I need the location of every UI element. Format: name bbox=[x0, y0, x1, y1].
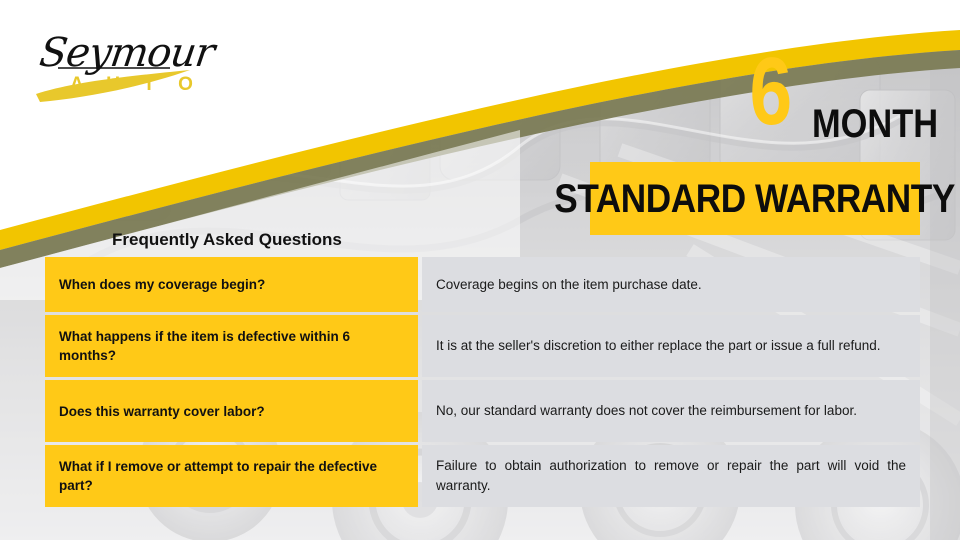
faq-question-cell: What if I remove or attempt to repair th… bbox=[45, 445, 418, 507]
faq-answer-cell: Coverage begins on the item purchase dat… bbox=[422, 257, 920, 312]
faq-question-cell: What happens if the item is defective wi… bbox=[45, 315, 418, 377]
faq-table: When does my coverage begin? Coverage be… bbox=[45, 257, 920, 507]
faq-answer-text: Failure to obtain authorization to remov… bbox=[436, 456, 906, 496]
table-row: What happens if the item is defective wi… bbox=[45, 315, 920, 377]
logo-auto-text: A U T O bbox=[70, 74, 202, 96]
warranty-duration-number: 6 bbox=[742, 44, 798, 140]
faq-answer-text: No, our standard warranty does not cover… bbox=[436, 401, 906, 421]
faq-answer-text: It is at the seller's discretion to eith… bbox=[436, 336, 906, 356]
table-row: Does this warranty cover labor? No, our … bbox=[45, 380, 920, 442]
brand-logo: Seymour A U T O bbox=[18, 16, 208, 108]
faq-heading: Frequently Asked Questions bbox=[112, 230, 342, 250]
faq-answer-text: Coverage begins on the item purchase dat… bbox=[436, 275, 906, 295]
warranty-duration-unit: MONTH bbox=[812, 104, 938, 144]
faq-question-text: What if I remove or attempt to repair th… bbox=[59, 457, 408, 495]
faq-question-cell: Does this warranty cover labor? bbox=[45, 380, 418, 442]
faq-answer-cell: It is at the seller's discretion to eith… bbox=[422, 315, 920, 377]
faq-answer-cell: No, our standard warranty does not cover… bbox=[422, 380, 920, 442]
logo-script-text: Seymour bbox=[37, 30, 217, 76]
table-row: When does my coverage begin? Coverage be… bbox=[45, 257, 920, 312]
faq-question-text: When does my coverage begin? bbox=[59, 275, 265, 294]
warranty-slide: Seymour A U T O 6 MONTH STANDARD WARRANT… bbox=[0, 0, 960, 540]
faq-question-text: Does this warranty cover labor? bbox=[59, 402, 265, 421]
standard-warranty-label: STANDARD WARRANTY bbox=[555, 179, 956, 219]
faq-question-cell: When does my coverage begin? bbox=[45, 257, 418, 312]
faq-answer-cell: Failure to obtain authorization to remov… bbox=[422, 445, 920, 507]
table-row: What if I remove or attempt to repair th… bbox=[45, 445, 920, 507]
faq-question-text: What happens if the item is defective wi… bbox=[59, 327, 408, 365]
standard-warranty-banner: STANDARD WARRANTY bbox=[590, 162, 920, 235]
